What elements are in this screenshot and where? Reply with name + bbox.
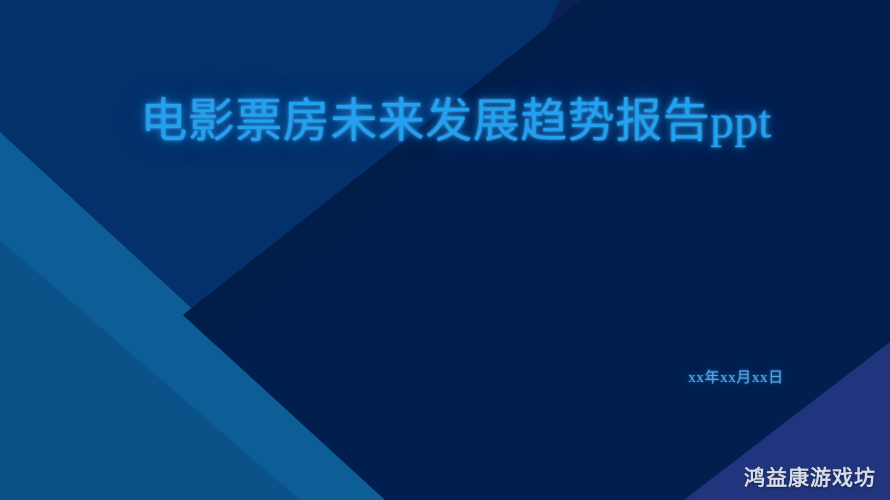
- watermark: 鸿益康游戏坊: [744, 462, 876, 492]
- date-block: xx年xx月xx日: [606, 366, 866, 387]
- watermark-text: 鸿益康游戏坊: [744, 462, 876, 492]
- slide-date: xx年xx月xx日: [606, 366, 866, 387]
- presentation-slide: 电影票房未来发展趋势报告ppt xx年xx月xx日 鸿益康游戏坊: [0, 0, 890, 500]
- title-block: 电影票房未来发展趋势报告ppt: [0, 96, 890, 149]
- slide-background-graphic: [0, 0, 890, 500]
- page-title: 电影票房未来发展趋势报告ppt: [22, 96, 890, 149]
